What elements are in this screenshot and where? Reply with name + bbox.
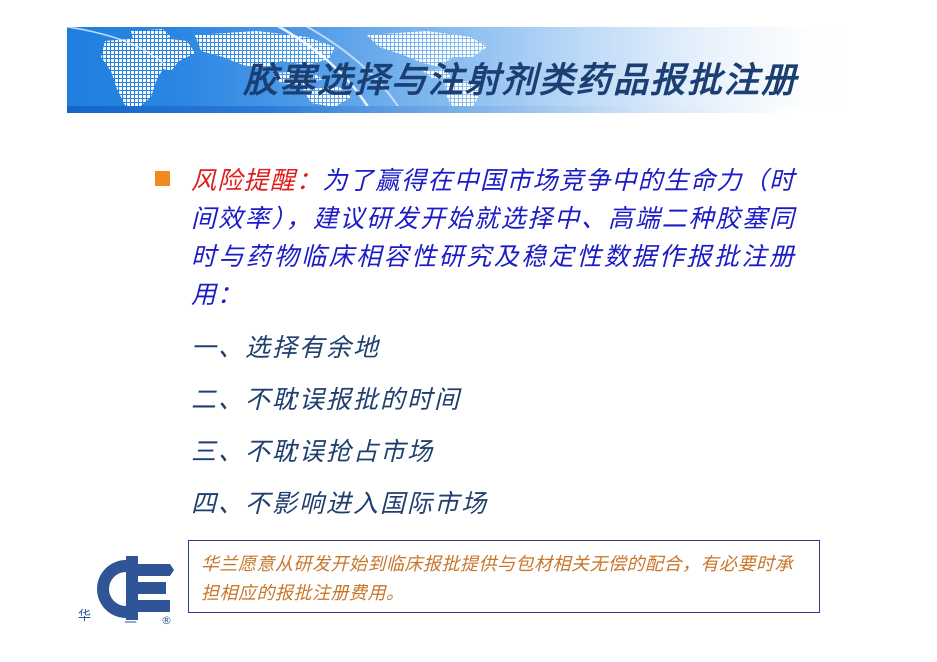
lead-paragraph: 风险提醒：为了赢得在中国市场竞争中的生命力（时间效率），建议研发开始就选择中、高…	[191, 162, 795, 314]
registered-trademark-icon: ®	[161, 614, 172, 627]
lead-label: 风险提醒：	[191, 166, 322, 195]
bullet-square-icon	[155, 171, 170, 186]
banner-bottom-strip	[67, 106, 857, 113]
list-item: 二、不耽误报批的时间	[191, 380, 831, 432]
hualan-logo: 华 兰 ®	[66, 548, 184, 640]
list-item: 四、不影响进入国际市场	[191, 484, 831, 536]
note-box: 华兰愿意从研发开始到临床报批提供与包材相关无偿的配合，有必要时承担相应的报批注册…	[188, 540, 820, 613]
lead-paragraph-block: 风险提醒：为了赢得在中国市场竞争中的生命力（时间效率），建议研发开始就选择中、高…	[155, 162, 795, 314]
svg-text:兰: 兰	[124, 611, 137, 626]
numbered-list: 一、选择有余地 二、不耽误报批的时间 三、不耽误抢占市场 四、不影响进入国际市场	[191, 328, 831, 536]
note-text: 华兰愿意从研发开始到临床报批提供与包材相关无偿的配合，有必要时承担相应的报批注册…	[201, 550, 807, 608]
svg-text:华: 华	[78, 609, 91, 624]
list-item: 三、不耽误抢占市场	[191, 432, 831, 484]
page-title: 胶塞选择与注射剂类药品报批注册	[243, 52, 937, 103]
list-item: 一、选择有余地	[191, 328, 831, 380]
